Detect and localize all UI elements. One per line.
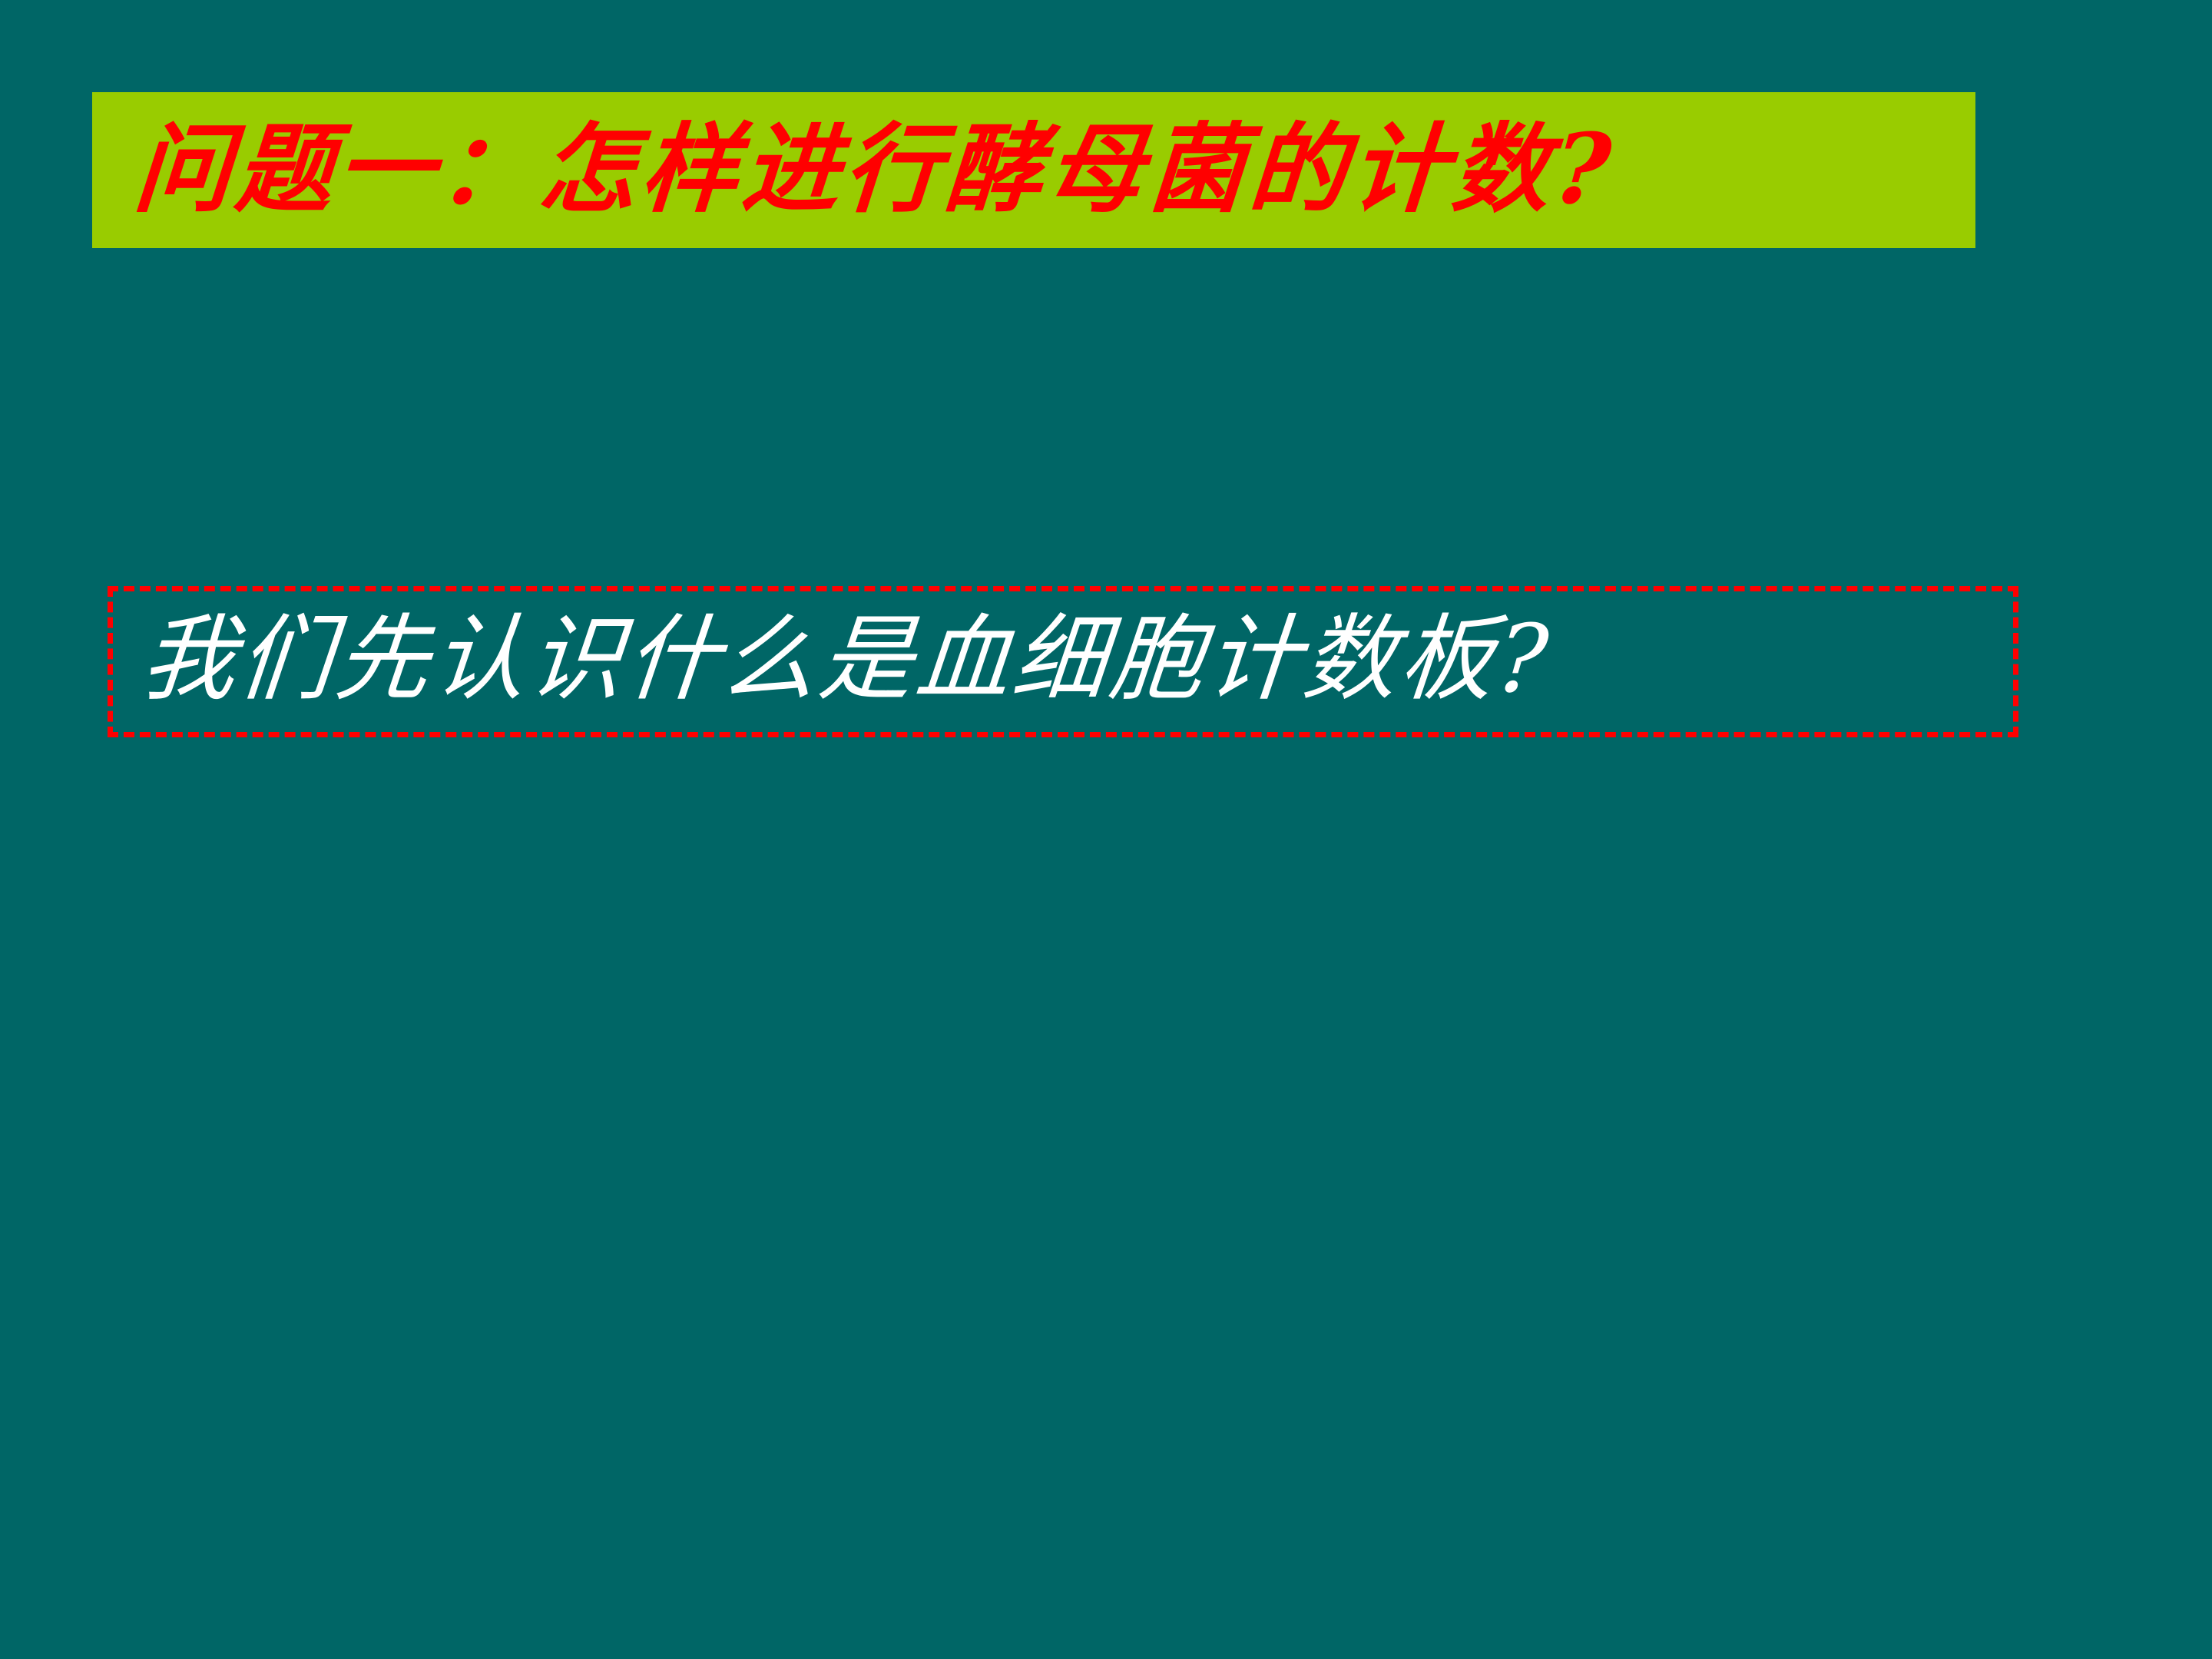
presentation-slide: 问题一：怎样进行酵母菌的计数? 我们先认识什么是血细胞计数板? bbox=[0, 0, 2212, 1659]
title-banner: 问题一：怎样进行酵母菌的计数? bbox=[92, 92, 1975, 248]
question-text: 我们先认识什么是血细胞计数板? bbox=[138, 612, 1555, 706]
question-callout-box: 我们先认识什么是血细胞计数板? bbox=[108, 586, 2018, 737]
slide-content-area bbox=[0, 768, 2212, 1659]
slide-title: 问题一：怎样进行酵母菌的计数? bbox=[131, 121, 1619, 217]
